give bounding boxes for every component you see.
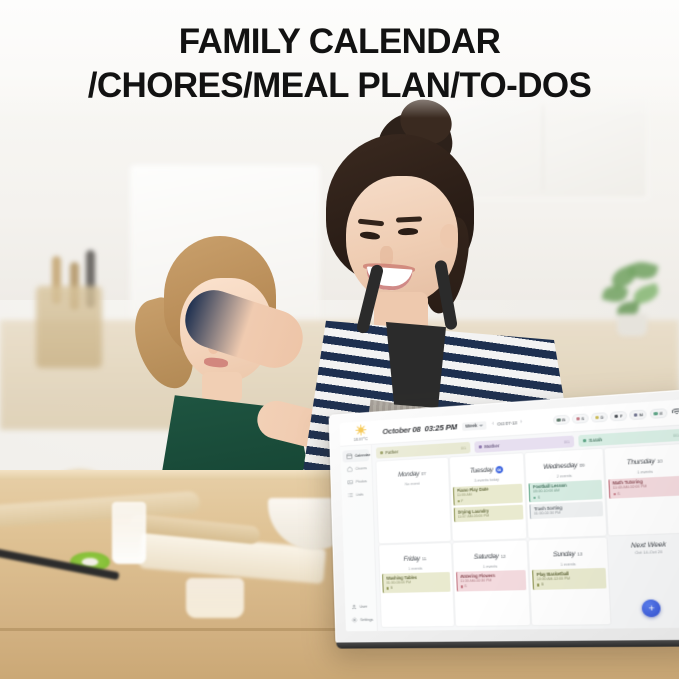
member-filter-count: 0/1 [673,433,679,438]
sidebar-label-user: User [360,605,368,609]
event-card[interactable]: Watering Flowers 11:30 AM-02:30 PM S [456,570,527,591]
member-badge[interactable]: S [572,413,589,424]
app-content: Father 0/1 Mother 0/1 Sarah 0/1 [372,425,679,631]
calendar-icon [346,453,352,459]
device-screen: 18.87°C October 08 03:25 PM Week ‹ Oct 0… [340,399,679,631]
day-cell-thursday[interactable]: Thursday 10 1 events Math Tutoring 11:40… [604,444,679,535]
utensil-jar [36,286,102,368]
member-color-dot [614,414,618,418]
house-plant [599,262,665,336]
member-color-dot [633,413,637,417]
member-color-dot [576,417,580,421]
day-event-count: 1 events [532,561,605,567]
day-events: Piano Play Date 11:00 AM F Drying L [452,483,524,538]
sidebar-item-settings[interactable]: Settings [347,614,374,627]
sidebar-item-chores[interactable]: Chores [343,462,370,475]
assignee-dot [460,585,463,588]
event-card[interactable]: Math Tutoring 11:40 AM-02:00 PM S [608,475,679,499]
day-name-row: Sunday 13 [553,550,583,558]
assignee-dot [613,493,616,496]
day-events: Watering Flowers 11:30 AM-02:30 PM S [456,570,528,624]
view-mode-select[interactable]: Week [462,421,487,431]
day-name-row: Saturday 12 [474,552,506,560]
sidebar-label-calendar: Calendar [355,453,370,458]
day-cell-saturday[interactable]: Saturday 12 1 events Watering Flowers 11… [452,540,530,626]
day-header: Friday 11 1 events [381,546,449,572]
current-time: 03:25 PM [424,422,457,433]
sidebar-label-photos: Photos [356,479,367,484]
member-initial: D [600,414,603,420]
date-time-display: October 08 03:25 PM [382,422,457,436]
day-event-count: 1 events [455,563,525,569]
day-header: Thursday 10 1 events [607,447,679,476]
day-name-row: Thursday 10 [627,457,663,466]
day-number: 13 [577,551,582,557]
weather-widget[interactable]: 18.87°C [344,424,378,443]
chores-icon [347,466,353,472]
screenshot-stage: FAMILY CALENDAR /CHORES/MEAL PLAN/TO-DOS… [0,0,679,679]
calendar-grid: Monday 07 No event [376,444,679,627]
day-name-row: Monday 07 [398,470,426,479]
member-badge[interactable]: F [610,411,627,422]
week-navigator: ‹ Oct 07-13 › [492,420,522,428]
next-week-range: Oct 14-Oct 20 [635,550,663,555]
sidebar-label-chores: Chores [355,466,367,471]
headline-line-2: /CHORES/MEAL PLAN/TO-DOS [88,68,592,103]
flour-jar [186,578,244,618]
member-initial: M [639,412,643,418]
event-card[interactable]: Play Basketball 10:00 AM-12:00 PM B [532,568,606,590]
member-initial: S [581,416,584,421]
headline-banner: FAMILY CALENDAR /CHORES/MEAL PLAN/TO-DOS [0,0,679,118]
day-events: Play Basketball 10:00 AM-12:00 PM B [532,568,607,623]
member-color-dot [380,451,383,454]
event-assignee: B [537,581,602,587]
day-name: Sunday [553,550,575,558]
day-events: Washing Tables 01:00-03:00 PM B [382,572,451,625]
day-header: Monday 07 No event [378,461,446,488]
assignee-initial: S [464,584,466,588]
day-events: Football Lesson 09:00-10:00 AM S Tr [528,479,603,535]
prev-week-button[interactable]: ‹ [492,421,494,427]
assignee-initial: S [617,492,620,496]
day-events: Math Tutoring 11:40 AM-02:00 PM S [608,475,679,532]
day-cell-monday[interactable]: Monday 07 No event [376,458,450,543]
assignee-dot [457,500,460,503]
chevron-down-icon [479,424,483,426]
member-badge[interactable]: D [591,412,608,423]
add-event-button[interactable]: + [642,599,661,617]
member-initial: F [620,413,623,419]
day-name: Saturday [474,552,499,560]
day-name-row: Wednesday 09 [543,461,585,471]
temperature-label: 18.87°C [353,436,367,442]
day-header: Wednesday 09 2 events [527,452,600,480]
current-date: October 08 [382,425,420,437]
view-mode-label: Week [465,423,477,429]
member-color-dot [583,439,586,442]
event-card[interactable]: Trash Sorting 01:00-02:30 PM [529,502,602,520]
day-name: Wednesday [543,462,577,471]
day-cell-friday[interactable]: Friday 11 1 events Washing Tables 01:00-… [379,542,453,626]
day-header: Tuesday 08 3 events today [451,457,521,485]
event-time: 01:00-02:30 PM [534,510,599,517]
gear-icon [351,617,357,623]
assignee-initial: F [461,499,463,503]
sidebar-item-photos[interactable]: Photos [343,475,370,488]
day-number: 11 [422,556,426,561]
member-color-dot [654,412,658,416]
day-header: Saturday 12 1 events [455,543,526,569]
day-name: Thursday [627,458,655,467]
assignee-initial: B [541,583,544,587]
day-number: 07 [421,471,426,476]
assignee-initial: B [390,586,392,590]
member-initial: B [562,417,565,422]
headline-line-1: FAMILY CALENDAR [179,24,501,59]
member-filter-name: Mother [484,443,499,449]
event-card[interactable]: Washing Tables 01:00-03:00 PM B [382,572,450,593]
app-body: Calendar Chores Photos [340,425,679,631]
photos-icon [347,479,353,485]
next-week-button[interactable]: › [520,420,522,426]
sidebar-item-user[interactable]: User [347,600,374,613]
smart-calendar-device: 18.87°C October 08 03:25 PM Week ‹ Oct 0… [329,389,679,645]
member-badges: B S D F M [553,407,679,425]
member-filter-count: 0/1 [461,446,466,450]
assignee-initial: S [538,495,541,499]
day-cell-wednesday[interactable]: Wednesday 09 2 events Football Lesson 09… [525,449,606,538]
assignee-dot [387,587,389,589]
assignee-dot [537,584,540,587]
member-badge[interactable]: E [650,408,667,419]
calendar-week-row-1: Monday 07 No event [376,444,679,543]
member-initial: E [659,411,662,417]
user-icon [351,604,357,610]
sidebar-spacer [342,501,376,601]
member-filter-name: Father [385,449,398,455]
day-number: 09 [579,462,584,468]
day-cell-sunday[interactable]: Sunday 13 1 events Play Basketball 10:00… [529,537,610,625]
week-range-label: Oct 07-13 [497,420,517,426]
today-badge: 08 [495,466,503,474]
day-name: Monday [398,470,419,478]
member-badge[interactable]: M [629,409,647,420]
milk-glass [112,502,146,564]
member-color-dot [479,445,482,448]
day-name-row: Friday 11 [403,555,426,563]
next-week-panel[interactable]: Next Week Oct 14-Oct 20 + [608,534,679,624]
member-color-dot [557,418,561,422]
event-card[interactable]: Piano Play Date 11:00 AM F [452,483,522,506]
sidebar-label-settings: Settings [360,618,373,622]
day-name-row: Tuesday 08 [470,466,503,475]
member-filter-count: 0/1 [564,439,570,444]
day-name: Tuesday [470,466,493,474]
event-card[interactable]: Drying Laundry 11:07 AM-03:00 PM [453,505,523,522]
day-name: Friday [403,555,420,563]
event-card[interactable]: Football Lesson 09:00-10:00 AM S [528,479,601,502]
lists-icon [348,492,354,498]
sun-icon [355,424,366,436]
day-number: 10 [657,458,662,464]
day-number: 12 [501,553,506,558]
member-badge[interactable]: B [553,415,570,426]
event-assignee: S [460,583,523,589]
assignee-dot [533,496,536,499]
member-filter-name: Sarah [589,437,602,443]
sidebar-item-calendar[interactable]: Calendar [342,449,369,463]
member-color-dot [595,416,599,420]
wifi-icon[interactable] [672,408,679,416]
next-week-title: Next Week [631,541,666,550]
event-time: 11:07 AM-03:00 PM [458,513,520,519]
day-event-count: 1 events [382,565,449,571]
sidebar-label-lists: Lists [356,493,363,497]
calendar-week-row-2: Friday 11 1 events Washing Tables 01:00-… [379,534,679,627]
sidebar-item-lists[interactable]: Lists [344,488,371,501]
event-assignee: B [387,585,447,590]
day-cell-tuesday[interactable]: Tuesday 08 3 events today Piano Play Dat… [449,453,526,540]
day-events [379,487,448,541]
day-header: Sunday 13 1 events [531,540,605,567]
